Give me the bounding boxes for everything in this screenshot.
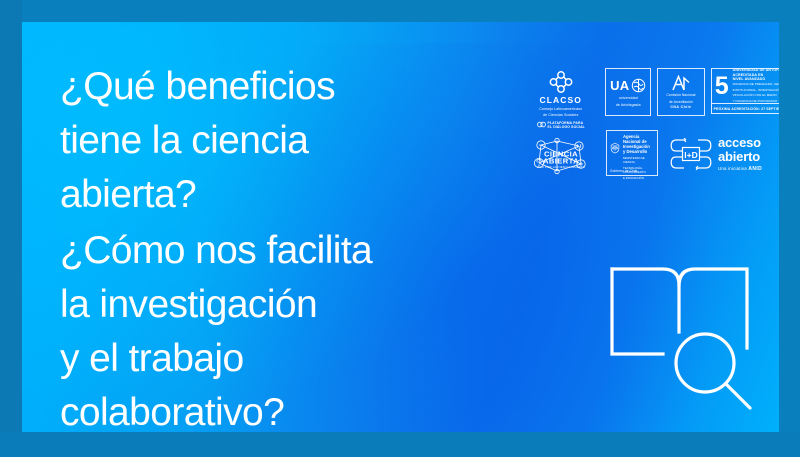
cna-chile-logo: Comisión Nacional de Acreditación CNA Ch… xyxy=(657,68,705,116)
ua-emblem-icon xyxy=(631,77,646,94)
anid-government-label: Gobierno de Chile xyxy=(610,169,637,173)
headline-line-2: tiene la ciencia xyxy=(60,114,490,168)
open-book-with-magnifier-icon xyxy=(601,254,761,414)
acreditacion-areas-3: VINCULACIÓN CON EL MEDIO xyxy=(733,94,779,98)
acceso-abierto-wordmark: acceso abierto Una iniciativa ANID xyxy=(718,136,762,172)
anid-line-4: y Desarrollo xyxy=(623,149,654,154)
anid-logo: Agencia Nacional de Investigación y Desa… xyxy=(606,130,658,176)
acreditacion-5-anios-logo: 5 UNIVERSIDAD DE ANTOFAGASTA ACREDITADA … xyxy=(711,68,779,114)
acceso-abierto-tagline-brand: ANID xyxy=(748,166,762,172)
acceso-abierto-logo: I+D acceso abierto Una iniciativa ANID xyxy=(670,130,762,174)
acceso-abierto-word-1: acceso xyxy=(718,136,762,150)
anid-ministry-1: MINISTERIO DE CIENCIA, xyxy=(623,157,654,164)
clacso-subtitle-1: Consejo Latinoamericano xyxy=(527,107,594,112)
headline-line-3: abierta? xyxy=(60,168,490,222)
cna-chile-label: CNA Chile xyxy=(670,105,691,109)
headline-line-5: la investigación xyxy=(60,278,490,332)
acreditacion-number: 5 xyxy=(715,74,729,99)
logo-strip: CLACSO Consejo Latinoamericano de Cienci… xyxy=(527,68,779,188)
acceso-abierto-word-2: abierto xyxy=(718,150,762,164)
clacso-dialogue-dots-icon xyxy=(537,120,546,129)
ciencia-abierta-logo: CIENCIA ABIERTA RED POR LA CIENCIA ABIER… xyxy=(527,130,595,179)
cna-subtitle-1: Comisión Nacional xyxy=(666,93,695,97)
acreditacion-text-block: UNIVERSIDAD DE ANTOFAGASTA ACREDITADA EN… xyxy=(733,68,779,103)
ua-subtitle-2: de Antofagasta xyxy=(616,103,641,107)
acceso-abierto-open-lock-icon: I+D xyxy=(670,134,712,174)
acreditacion-footer-bar: PRÓXIMA ACREDITACIÓN: 27 SEPTIEMBRE 2027 xyxy=(711,104,779,114)
universidad-de-antofagasta-logo: UA universidad de Antofagasta xyxy=(605,68,651,116)
slide-panel: ¿Qué beneficios tiene la ciencia abierta… xyxy=(22,22,779,432)
headline-line-6: y el trabajo xyxy=(60,332,490,386)
acreditacion-areas-2: INSTITUCIONAL, INVESTIGACIÓN, xyxy=(733,89,779,93)
acceso-abierto-tagline: Una iniciativa ANID xyxy=(718,166,762,172)
ua-mark: UA xyxy=(610,77,646,94)
cna-monogram-icon xyxy=(671,75,691,91)
acceso-abierto-tagline-prefix: Una iniciativa xyxy=(718,166,748,171)
clacso-title: CLACSO xyxy=(527,96,594,105)
frame-bottom-band xyxy=(0,432,800,457)
acreditacion-title-3: NIVEL AVANZADO xyxy=(733,77,779,81)
anid-ministry-3: E INNOVACIÓN xyxy=(623,177,654,181)
clacso-logo: CLACSO Consejo Latinoamericano de Cienci… xyxy=(527,68,594,129)
ua-letters: UA xyxy=(610,79,629,92)
acreditacion-main-block: 5 UNIVERSIDAD DE ANTOFAGASTA ACREDITADA … xyxy=(711,68,779,104)
logo-row-top: CLACSO Consejo Latinoamericano de Cienci… xyxy=(527,68,779,126)
acreditacion-areas-4: Y DOCENCIA DE POSTGRADO xyxy=(733,100,779,104)
headline-block: ¿Qué beneficios tiene la ciencia abierta… xyxy=(60,60,490,432)
book-magnifier-svg xyxy=(601,254,761,414)
clacso-knot-icon xyxy=(548,70,574,94)
acceso-abierto-badge-text: I+D xyxy=(684,150,697,160)
cna-subtitle-2: de Acreditación xyxy=(669,100,693,104)
logo-row-bottom: CIENCIA ABIERTA RED POR LA CIENCIA ABIER… xyxy=(527,130,779,188)
frame-left-band xyxy=(0,0,22,457)
headline-line-7: colaborativo? xyxy=(60,386,490,432)
chile-government-crest-icon xyxy=(610,140,620,156)
clacso-subtitle-2: de Ciencias Sociales xyxy=(527,113,594,118)
acreditacion-areas-1: DOCENCIA DE PREGRADO, GESTIÓN xyxy=(733,83,779,87)
acreditacion-footer-text: PRÓXIMA ACREDITACIÓN: 27 SEPTIEMBRE 2027 xyxy=(714,107,779,111)
slide-canvas: ¿Qué beneficios tiene la ciencia abierta… xyxy=(0,0,800,457)
ciencia-abierta-subtitle: RED POR LA CIENCIA ABIERTA xyxy=(537,165,585,169)
ua-subtitle-1: universidad xyxy=(619,96,638,100)
anid-text-block: Agencia Nacional de Investigación y Desa… xyxy=(623,134,654,172)
ciencia-abierta-network-icon: CIENCIA ABIERTA RED POR LA CIENCIA ABIER… xyxy=(527,133,595,179)
headline-line-4: ¿Cómo nos facilita xyxy=(60,224,490,278)
clacso-platform-block: PLATAFORMA PARA EL DIÁLOGO SOCIAL xyxy=(527,120,594,129)
clacso-platform-line-2: EL DIÁLOGO SOCIAL xyxy=(548,125,585,129)
headline-line-1: ¿Qué beneficios xyxy=(60,60,490,114)
